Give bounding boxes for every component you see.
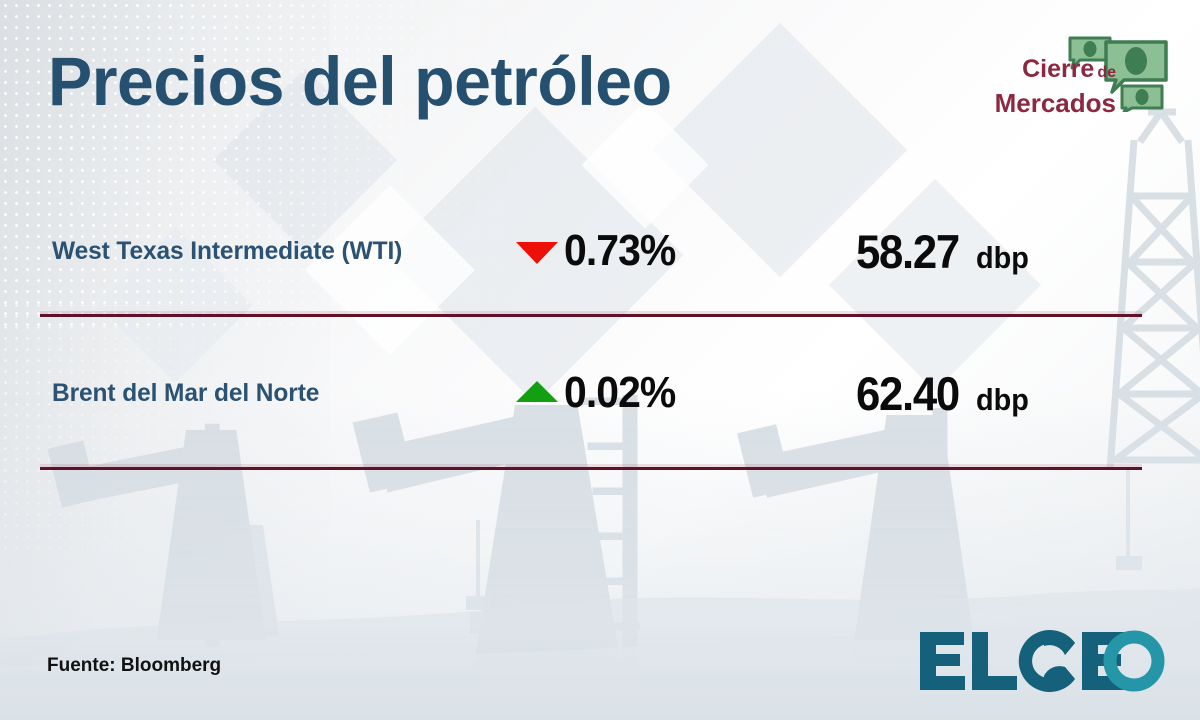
row-price-group: 62.40 dbp <box>856 366 1032 421</box>
badge-line-1: Cierrede <box>995 54 1116 88</box>
row-change-group: 0.73% <box>516 221 684 281</box>
row-divider-2 <box>40 467 1142 470</box>
badge-text: Cierrede Mercados <box>995 54 1116 119</box>
badge-word-cierre: Cierre <box>1022 55 1094 83</box>
dot-pattern-lower <box>0 300 300 550</box>
infographic-canvas: Precios del petróleo Cierrede Mercados <box>0 0 1200 720</box>
badge-line-2: Mercados <box>995 88 1116 119</box>
row-price-unit: dbp <box>976 382 1029 418</box>
triangle-up-icon <box>516 381 558 402</box>
row-label: Brent del Mar del Norte <box>52 379 319 408</box>
row-divider-1 <box>40 314 1142 317</box>
source-attribution: Fuente: Bloomberg <box>47 655 221 677</box>
el-ceo-logo <box>918 630 1166 692</box>
triangle-down-icon <box>516 242 558 264</box>
row-price-value: 62.40 <box>856 366 959 421</box>
price-row-brent: Brent del Mar del Norte 0.02% 62.40 dbp <box>0 363 1200 423</box>
row-price-unit: dbp <box>976 240 1029 276</box>
cierre-de-mercados-badge: Cierrede Mercados <box>952 30 1172 125</box>
row-label: West Texas Intermediate (WTI) <box>52 237 402 266</box>
row-price-value: 58.27 <box>856 224 959 279</box>
row-change-percent: 0.73% <box>564 226 675 276</box>
page-title: Precios del petróleo <box>48 41 672 123</box>
badge-word-de: de <box>1094 64 1116 81</box>
price-row-wti: West Texas Intermediate (WTI) 0.73% 58.2… <box>0 221 1200 281</box>
row-change-group: 0.02% <box>516 363 684 423</box>
row-change-percent: 0.02% <box>564 368 675 418</box>
row-price-group: 58.27 dbp <box>856 224 1032 279</box>
